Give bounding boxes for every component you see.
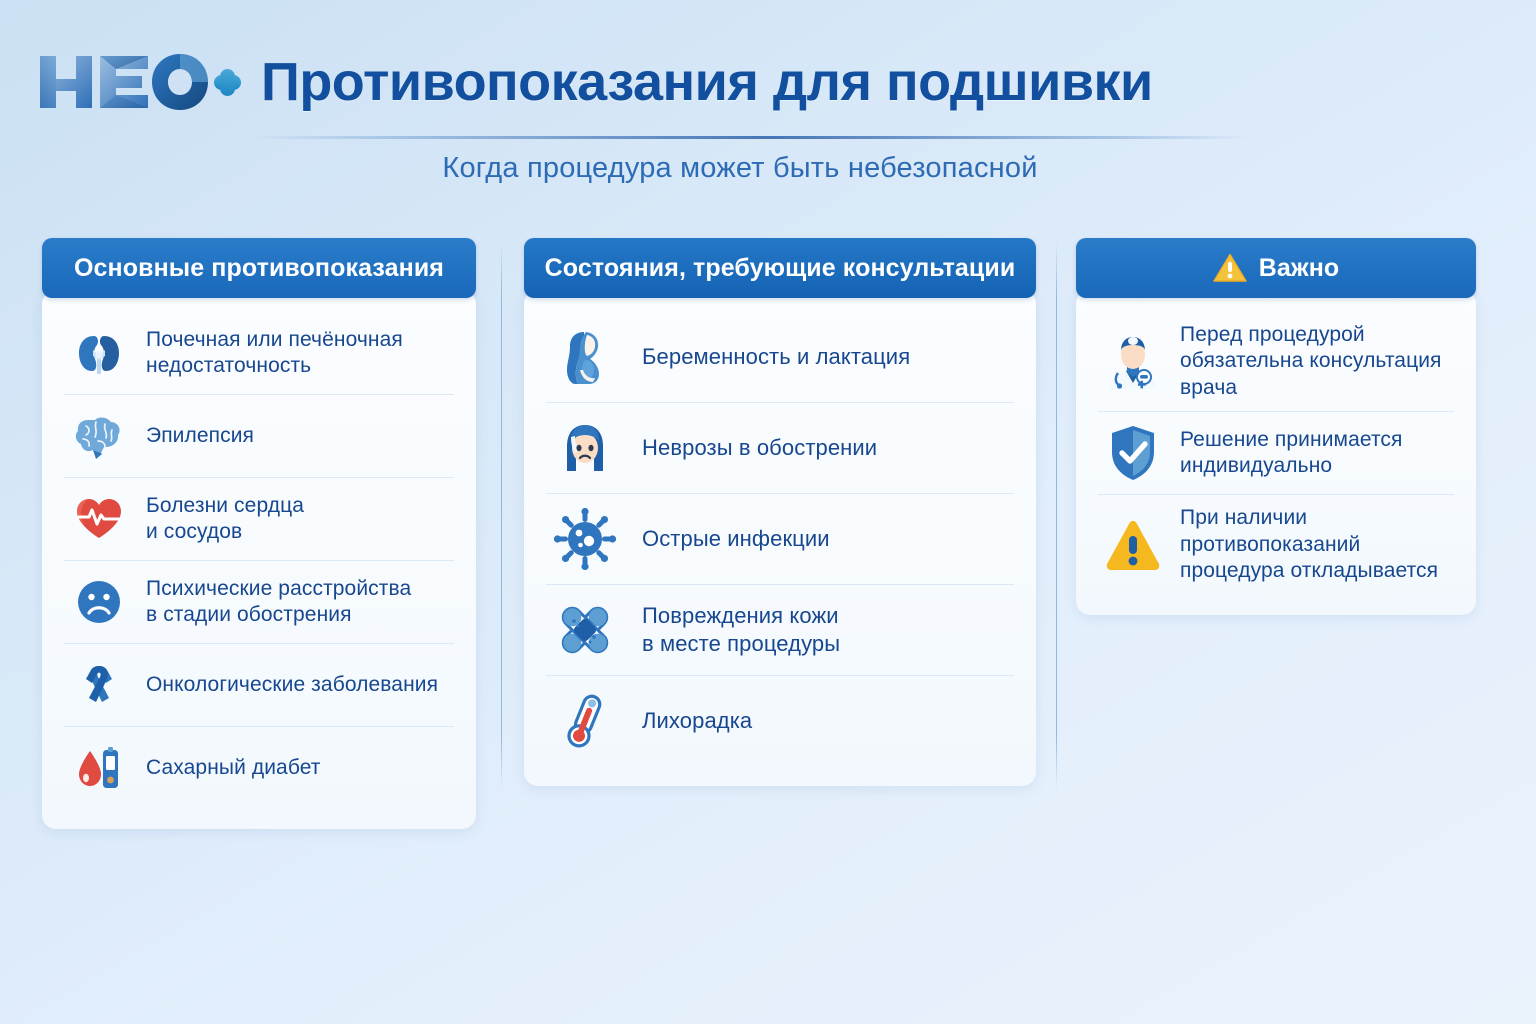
list-item[interactable]: Онкологические заболевания [64,643,454,726]
list-item[interactable]: Неврозы в обострении [546,402,1014,493]
card-body-important: Перед процедурой обязательна консультаци… [1076,290,1476,615]
page-header: Противопоказания для подшивки Когда проц… [0,0,1536,215]
list-item-label: Перед процедурой обязательна консультаци… [1180,322,1442,401]
awareness-ribbon-icon [68,654,130,716]
card-important: Важно [1076,238,1476,615]
list-item-label: Эпилепсия [146,423,254,449]
list-item[interactable]: При наличии противопоказаний процедура о… [1098,494,1454,594]
list-item-label: Повреждения кожи в месте процедуры [642,602,840,657]
list-item[interactable]: Эпилепсия [64,394,454,477]
pregnant-woman-icon [550,322,620,392]
page-title: Противопоказания для подшивки [261,55,1153,109]
brand-and-title: Противопоказания для подшивки [36,46,1153,118]
sad-woman-icon [550,413,620,483]
card-main-contraindications: Основные противопоказания Почечная или п… [42,238,476,829]
list-item[interactable]: Психические расстройства в стадии обостр… [64,560,454,643]
list-item-label: Беременность и лактация [642,343,910,371]
list-item-label: Острые инфекции [642,525,830,553]
shield-check-icon [1102,422,1164,484]
warning-triangle-icon [1102,514,1164,576]
list-item[interactable]: Сахарный диабет [64,726,454,809]
card-conditions-requiring-consultation: Состояния, требующие консультации Береме… [524,238,1036,786]
list-item-label: Сахарный диабет [146,755,321,781]
brain-icon [68,405,130,467]
list-item[interactable]: Повреждения кожи в месте процедуры [546,584,1014,675]
card-header-main-contraindications: Основные противопоказания [42,238,476,298]
virus-icon [550,504,620,574]
list-item-label: При наличии противопоказаний процедура о… [1180,505,1438,584]
list-item[interactable]: Острые инфекции [546,493,1014,584]
list-item-label: Онкологические заболевания [146,672,438,698]
card-header-label: Основные противопоказания [74,254,444,283]
list-item[interactable]: Болезни сердца и сосудов [64,477,454,560]
card-body-main-contraindications: Почечная или печёночная недостаточность [42,290,476,829]
bandage-icon [550,595,620,665]
list-item[interactable]: Лихорадка [546,675,1014,766]
neo-plus-logo-icon [36,46,241,118]
card-header-conditions-requiring-consultation: Состояния, требующие консультации [524,238,1036,298]
list-item[interactable]: Беременность и лактация [546,312,1014,402]
list-item-label: Почечная или печёночная недостаточность [146,327,403,380]
card-header-label: Важно [1259,254,1340,283]
column-divider-2 [1056,242,1057,790]
list-item-label: Неврозы в обострении [642,434,877,462]
card-header-important: Важно [1076,238,1476,298]
heart-pulse-icon [68,488,130,550]
column-divider-1 [501,242,502,790]
list-item[interactable]: Перед процедурой обязательна консультаци… [1098,312,1454,411]
title-divider [250,136,1250,139]
doctor-icon [1102,331,1164,393]
list-item[interactable]: Решение принимается индивидуально [1098,411,1454,494]
card-header-label: Состояния, требующие консультации [545,254,1016,283]
columns-container: Основные противопоказания Почечная или п… [0,238,1536,938]
glucometer-blood-drop-icon [68,737,130,799]
list-item-label: Лихорадка [642,707,752,735]
kidneys-icon [68,322,130,384]
page-subtitle: Когда процедура может быть небезопасной [0,152,1480,185]
list-item-label: Психические расстройства в стадии обостр… [146,576,411,629]
list-item-label: Решение принимается индивидуально [1180,427,1403,480]
list-item[interactable]: Почечная или печёночная недостаточность [64,312,454,394]
warning-triangle-icon [1213,253,1247,283]
list-item-label: Болезни сердца и сосудов [146,493,304,546]
card-body-conditions-requiring-consultation: Беременность и лактация Неврозы в обостр… [524,290,1036,786]
sad-face-icon [68,571,130,633]
thermometer-icon [550,686,620,756]
